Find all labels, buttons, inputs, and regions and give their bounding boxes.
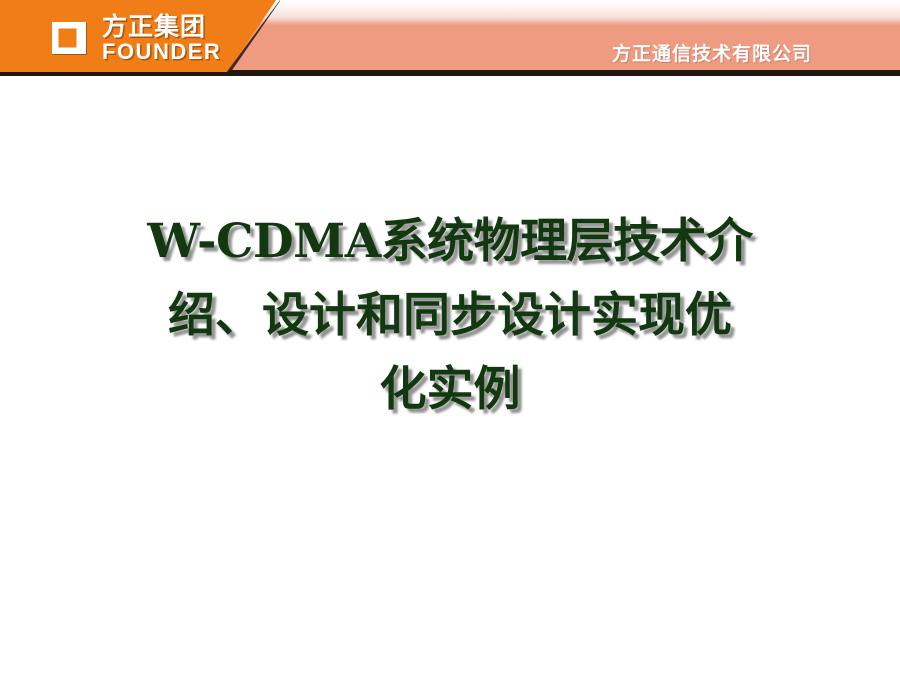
founder-logo-mark	[46, 16, 92, 60]
company-name-label: 方正通信技术有限公司	[612, 39, 812, 66]
presentation-slide: 方正集团 FOUNDER 方正通信技术有限公司 W-CDMA系统物理层技术介 绍…	[0, 0, 900, 675]
slide-title: W-CDMA系统物理层技术介 绍、设计和同步设计实现优 化实例	[60, 205, 840, 427]
slide-title-line-3: 化实例	[60, 353, 840, 427]
slide-title-line-1: W-CDMA系统物理层技术介	[60, 205, 840, 279]
founder-logo-english: FOUNDER	[102, 41, 221, 63]
founder-logo[interactable]: 方正集团 FOUNDER	[46, 13, 221, 63]
slide-header-banner: 方正集团 FOUNDER 方正通信技术有限公司	[0, 0, 900, 77]
founder-logo-chinese: 方正集团	[102, 14, 221, 39]
slide-title-line-2: 绍、设计和同步设计实现优	[60, 279, 840, 353]
founder-logo-wordmark: 方正集团 FOUNDER	[102, 14, 221, 63]
